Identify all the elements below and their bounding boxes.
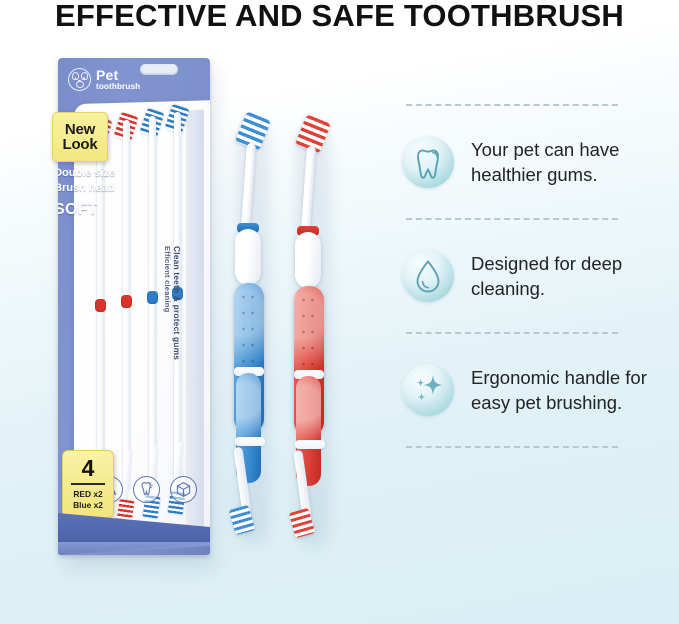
tooth-icon xyxy=(133,476,160,503)
feature-text: Designed for deep cleaning. xyxy=(471,251,660,301)
feature-list: Your pet can have healthier gums. Design… xyxy=(398,104,660,448)
package-cube-icon xyxy=(170,476,197,503)
package-bullets: Double size Brush head SOFT xyxy=(58,166,150,219)
feature-text: Your pet can have healthier gums. xyxy=(471,137,660,187)
feature-divider-4 xyxy=(406,446,618,448)
water-drop-icon xyxy=(402,250,454,302)
product-package: Pet toothbrush xyxy=(58,58,216,563)
quantity-rule xyxy=(71,483,105,484)
new-look-line-2: Look xyxy=(62,137,97,152)
feature-item-deep-cleaning: Designed for deep cleaning. xyxy=(398,220,660,332)
tooth-icon xyxy=(402,136,454,188)
side-text-line-1: Clean teeth & protect gums xyxy=(172,246,182,426)
quantity-blue: Blue x2 xyxy=(73,500,103,511)
red-toothbrush xyxy=(292,118,338,548)
brush-band-lower xyxy=(295,440,325,449)
quantity-red: RED x2 xyxy=(73,489,102,500)
new-look-line-1: New xyxy=(65,122,95,137)
quantity-number: 4 xyxy=(82,457,95,480)
sparkle-icon xyxy=(402,364,454,416)
page-title: EFFECTIVE AND SAFE TOOTHBRUSH xyxy=(0,0,679,34)
bullet-line-1: Double size xyxy=(58,166,150,181)
feature-item-healthier-gums: Your pet can have healthier gums. xyxy=(398,106,660,218)
brush-bulb xyxy=(235,229,261,285)
bullet-softness: SOFT xyxy=(58,201,150,219)
feature-item-ergonomic-handle: Ergonomic handle for easy pet brushing. xyxy=(398,334,660,446)
side-text-line-2: Efficient cleaning xyxy=(162,246,172,426)
brush-bulb xyxy=(295,232,321,288)
bullet-line-2: Brush head xyxy=(58,181,150,196)
blue-toothbrush xyxy=(232,115,278,545)
feature-text: Ergonomic handle for easy pet brushing. xyxy=(471,365,660,415)
brush-band-lower xyxy=(235,437,265,446)
new-look-badge: New Look xyxy=(52,112,108,162)
package-side-text: Clean teeth & protect gums Efficient cle… xyxy=(162,246,182,426)
product-infographic: EFFECTIVE AND SAFE TOOTHBRUSH Pet toothb… xyxy=(0,0,679,624)
quantity-badge: 4 RED x2 Blue x2 xyxy=(62,450,114,518)
